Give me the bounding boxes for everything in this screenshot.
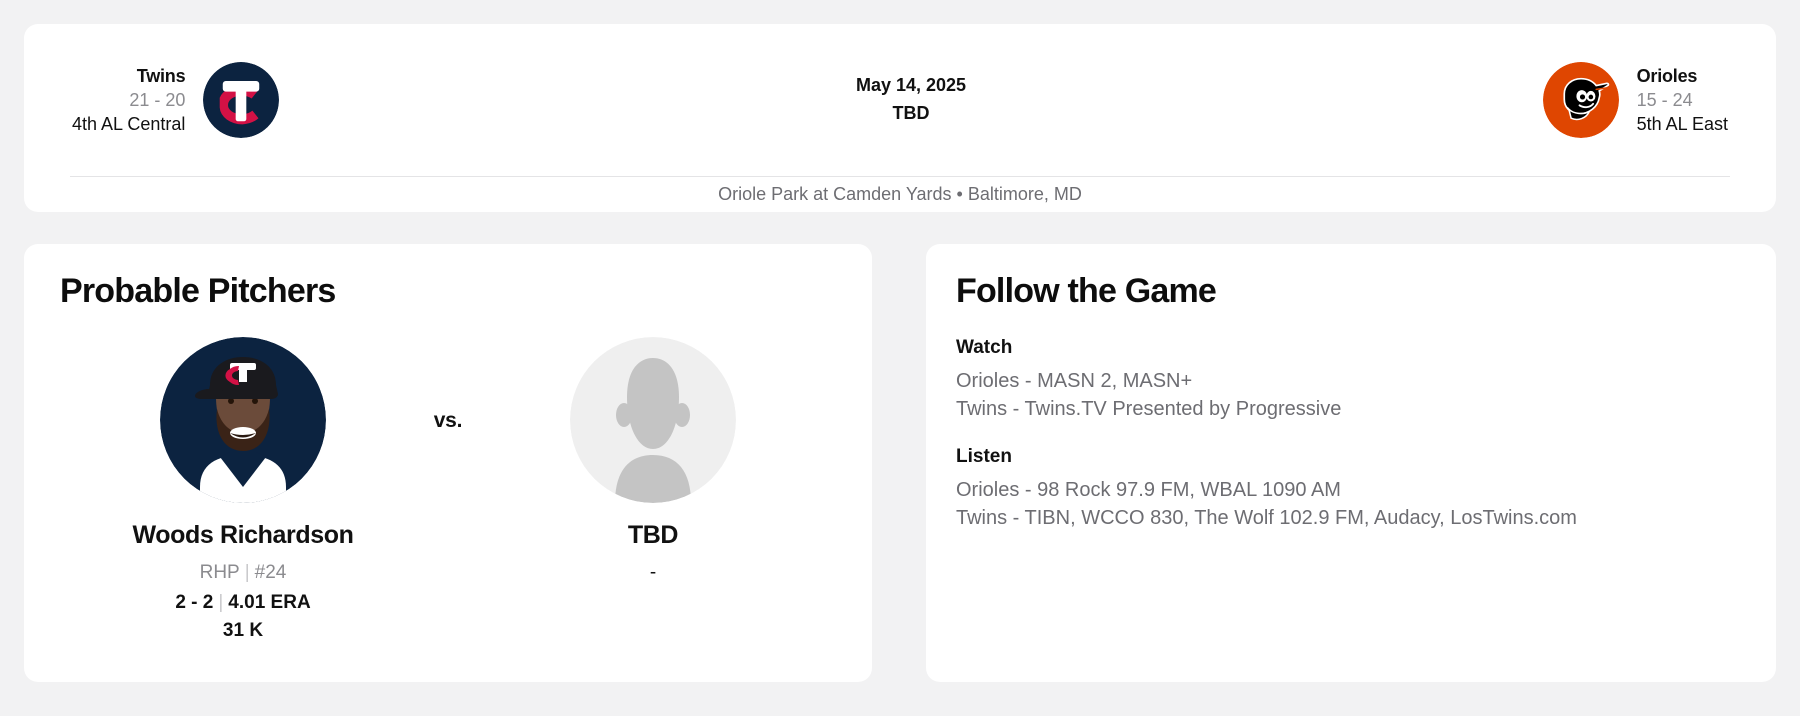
pitcher-headshot-placeholder-icon: [570, 337, 736, 503]
away-team-standing: 4th AL Central: [72, 112, 185, 136]
pitchers-row: Woods Richardson RHP|#24 2 - 2|4.01 ERA …: [60, 337, 836, 642]
home-team-standing: 5th AL East: [1637, 112, 1728, 136]
home-pitcher-name: TBD: [503, 521, 803, 550]
away-pitcher-era: 4.01 ERA: [228, 592, 310, 613]
home-pitcher[interactable]: TBD -: [503, 337, 803, 584]
listen-heading: Listen: [956, 446, 1746, 468]
away-pitcher-number: #24: [255, 562, 287, 583]
away-pitcher-strikeouts: 31 K: [93, 620, 393, 642]
away-pitcher-meta: RHP|#24: [93, 562, 393, 584]
away-pitcher-stats: 2 - 2|4.01 ERA: [93, 592, 393, 614]
away-pitcher[interactable]: Woods Richardson RHP|#24 2 - 2|4.01 ERA …: [93, 337, 393, 642]
watch-line: Twins - Twins.TV Presented by Progressiv…: [956, 395, 1746, 423]
home-team-name: Orioles: [1637, 64, 1728, 88]
away-pitcher-record: 2 - 2: [175, 592, 213, 613]
watch-heading: Watch: [956, 337, 1746, 359]
away-team-record: 21 - 20: [72, 88, 185, 112]
follow-the-game-card: Follow the Game Watch Orioles - MASN 2, …: [926, 244, 1776, 682]
vs-separator: vs.: [393, 337, 503, 433]
lower-row: Probable Pitchers: [24, 244, 1776, 682]
listen-line: Twins - TIBN, WCCO 830, The Wolf 102.9 F…: [956, 504, 1746, 532]
home-pitcher-detail: -: [503, 562, 803, 584]
pitcher-headshot-icon: [160, 337, 326, 503]
game-info: May 14, 2025 TBD: [856, 72, 966, 128]
probable-pitchers-title: Probable Pitchers: [60, 272, 836, 311]
probable-pitchers-card: Probable Pitchers: [24, 244, 872, 682]
watch-line: Orioles - MASN 2, MASN+: [956, 367, 1746, 395]
home-team-text: Orioles 15 - 24 5th AL East: [1637, 64, 1728, 137]
watch-block: Watch Orioles - MASN 2, MASN+ Twins - Tw…: [956, 337, 1746, 424]
twins-logo-icon: [203, 62, 279, 138]
game-date: May 14, 2025: [856, 72, 966, 100]
home-team-record: 15 - 24: [1637, 88, 1728, 112]
stats-separator: |: [213, 592, 228, 613]
game-preview-page: Twins 21 - 20 4th AL Central May 14, 202…: [0, 0, 1800, 716]
away-pitcher-name: Woods Richardson: [93, 521, 393, 550]
away-pitcher-hand: RHP: [200, 562, 240, 583]
home-team[interactable]: Orioles 15 - 24 5th AL East: [1543, 62, 1728, 138]
matchup-header-row: Twins 21 - 20 4th AL Central May 14, 202…: [48, 24, 1752, 176]
follow-the-game-title: Follow the Game: [956, 272, 1746, 311]
away-team-text: Twins 21 - 20 4th AL Central: [72, 64, 185, 137]
meta-separator: |: [240, 562, 255, 583]
matchup-header-card: Twins 21 - 20 4th AL Central May 14, 202…: [24, 24, 1776, 212]
away-team-name: Twins: [72, 64, 185, 88]
listen-block: Listen Orioles - 98 Rock 97.9 FM, WBAL 1…: [956, 446, 1746, 533]
orioles-logo-icon: [1543, 62, 1619, 138]
venue-line: Oriole Park at Camden Yards • Baltimore,…: [48, 177, 1752, 212]
listen-line: Orioles - 98 Rock 97.9 FM, WBAL 1090 AM: [956, 476, 1746, 504]
game-time: TBD: [856, 100, 966, 128]
away-team[interactable]: Twins 21 - 20 4th AL Central: [72, 62, 279, 138]
